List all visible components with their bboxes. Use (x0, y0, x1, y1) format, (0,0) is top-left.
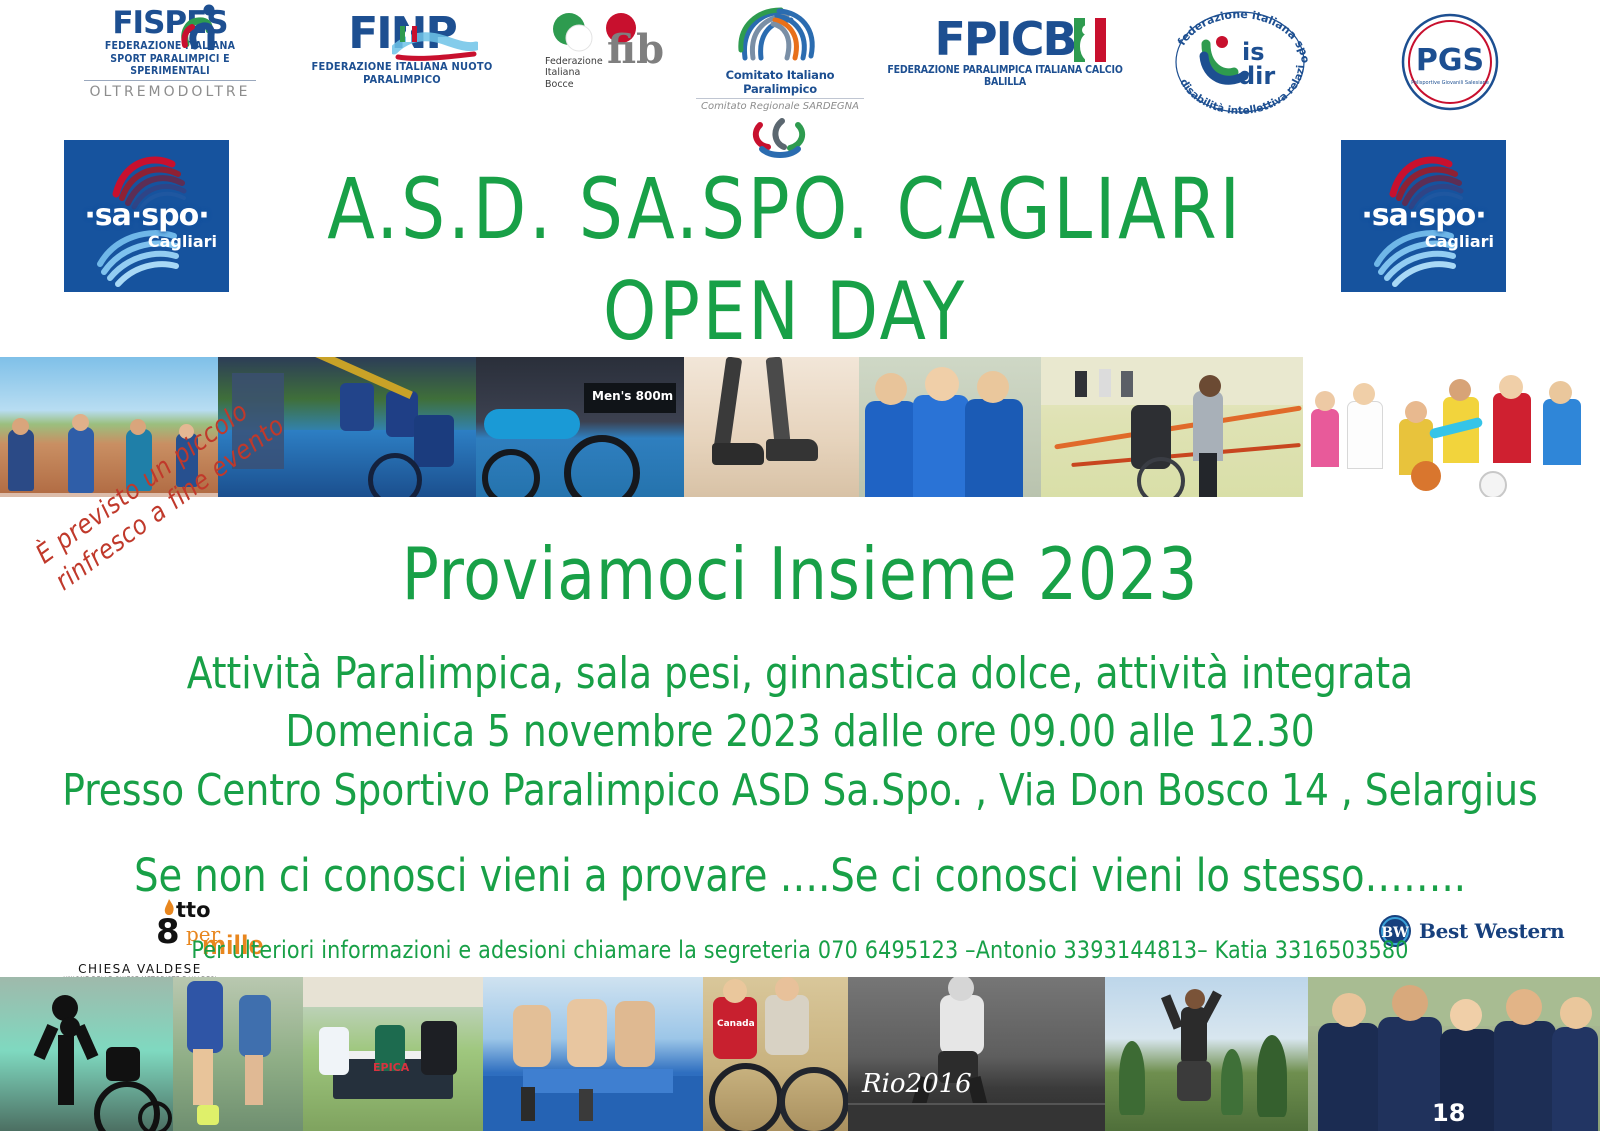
saspo-city: Cagliari (148, 232, 217, 251)
saspo-wordmark: ·sa·spo· (64, 198, 229, 233)
svg-text:PGS: PGS (1416, 43, 1484, 78)
photo-kids-multisport (1303, 357, 1600, 497)
page-title: A.S.D. SA.SPO. CAGLIARI (284, 165, 1287, 254)
cip-divider (696, 98, 864, 99)
logo-fisdir: federazione italiana sport disabilità in… (1160, 4, 1320, 119)
logo-fib: fib Federazione Italiana Bocce (545, 12, 675, 74)
fpicb-flag-icon (1074, 18, 1106, 62)
saspo-logo-left: ·sa·spo· Cagliari (64, 140, 229, 292)
detail-venue: Presso Centro Sportivo Paralimpico ASD S… (40, 765, 1560, 816)
photo-strip-bottom: EPICA Canada Rio2016 (0, 977, 1600, 1131)
logo-pgs: PGS Polisportive Giovanili Salesiane (1395, 12, 1505, 117)
fib-subtitle-line1: Federazione (545, 56, 603, 67)
svg-text:federazione italiana sport: federazione italiana sport (1160, 4, 1312, 65)
photo-silhouette-ball (0, 977, 173, 1131)
otto-line1: tto (176, 900, 211, 921)
event-headline: Proviamoci Insieme 2023 (316, 538, 1285, 610)
logo-fispes: FISPES FEDERAZIONE ITALIANA SPORT PARALI… (70, 8, 270, 100)
photo-team-huddle-navy: 18 (1308, 977, 1600, 1131)
finp-wave-icon (392, 24, 478, 64)
fib-subtitle-line2: Italiana Bocce (545, 67, 580, 89)
poster-canvas: FISPES FEDERAZIONE ITALIANA SPORT PARALI… (0, 0, 1600, 1131)
fispes-tagline: OLTREMODOLTRE (70, 84, 270, 100)
federation-logo-row: FISPES FEDERAZIONE ITALIANA SPORT PARALI… (0, 0, 1600, 130)
cip-subtitle: Comitato Regionale SARDEGNA (690, 101, 870, 112)
cip-wordmark: Comitato Italiano Paralimpico (690, 68, 870, 96)
logo-finp: FINP FEDERAZIONE ITALIANA NUOTO PARALIMP… (292, 12, 512, 86)
saspo-wordmark-right: ·sa·spo· (1341, 198, 1506, 233)
photo-road-runners (173, 977, 303, 1131)
svg-text:dir: dir (1238, 62, 1275, 90)
fispes-subtitle-line1: FEDERAZIONE ITALIANA (70, 40, 270, 52)
page-subtitle: OPEN DAY (273, 272, 1298, 352)
photo-kids-team-huddle (859, 357, 1041, 497)
detail-activities: Attività Paralimpica, sala pesi, ginnast… (40, 648, 1560, 699)
fispes-divider (84, 80, 256, 81)
saspo-city-right: Cagliari (1425, 232, 1494, 251)
contact-info: Per ulteriori informazioni e adesioni ch… (32, 936, 1568, 964)
fpicb-subtitle: FEDERAZIONE PARALIMPICA ITALIANA CALCIO … (880, 64, 1130, 88)
detail-invite: Se non ci conosci vieni a provare ….Se c… (40, 849, 1560, 902)
cip-agitos-icon (750, 115, 810, 159)
photo-wheelchair-basketball: Canada (703, 977, 848, 1131)
otto-org: CHIESA VALDESE (60, 962, 220, 976)
svg-text:Polisportive Giovanili Salesia: Polisportive Giovanili Salesiane (1411, 80, 1489, 86)
photo-prosthetic-legs (684, 357, 859, 497)
logo-cip: Comitato Italiano Paralimpico Comitato R… (690, 6, 870, 159)
saspo-logo-right: ·sa·spo· Cagliari (1341, 140, 1506, 292)
photo-wheelchair-racer: Men's 800m (476, 357, 684, 497)
logo-fpicb: FPICB FEDERAZIONE PARALIMPICA ITALIANA C… (880, 16, 1130, 88)
cip-swoosh-icon (725, 6, 835, 66)
fispes-subtitle-line2: SPORT PARALIMPICI E SPERIMENTALI (70, 53, 270, 77)
photo-table-football: EPICA (303, 977, 483, 1131)
pgs-seal-icon: PGS Polisportive Giovanili Salesiane (1400, 12, 1500, 112)
photo-gym-wheelchair-sport (1041, 357, 1303, 497)
fpicb-wordmark: FPICB (934, 16, 1075, 62)
detail-datetime: Domenica 5 novembre 2023 dalle ore 09.00… (40, 706, 1560, 757)
photo-swim-poolside (483, 977, 703, 1131)
photo-javelin-celebration (1105, 977, 1308, 1131)
fisdir-seal-icon: federazione italiana sport disabilità in… (1160, 4, 1320, 114)
fispes-runner-icon (178, 4, 220, 50)
photo-rio-2016-sprinter: Rio2016 (848, 977, 1105, 1131)
fib-wordmark: fib (607, 30, 664, 70)
